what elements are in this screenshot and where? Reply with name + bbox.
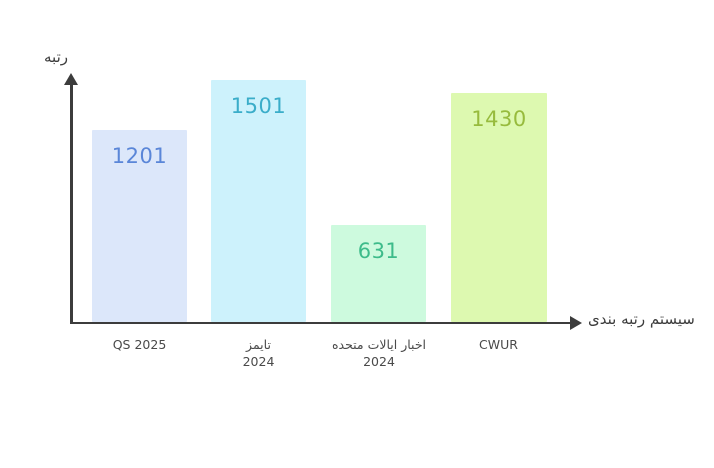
x-tick-line-1: QS 2025 [113, 337, 167, 352]
bar-value-label: 631 [358, 239, 400, 263]
x-tick-line-2: 2024 [201, 353, 316, 370]
chart-canvas: رتبه سیستم رتبه بندی 1201 1501 631 1430 … [0, 0, 714, 468]
bar-value-label: 1430 [471, 107, 526, 131]
bar-times-2024[interactable]: 1501 [211, 80, 306, 322]
x-tick-label-cwur: CWUR [441, 336, 556, 353]
plot-area: 1201 1501 631 1430 [0, 0, 714, 468]
bar-cwur[interactable]: 1430 [451, 93, 547, 322]
x-tick-line-1: CWUR [479, 337, 518, 352]
x-tick-line-2: 2024 [318, 353, 440, 370]
bar-qs-2025[interactable]: 1201 [92, 130, 187, 322]
x-tick-label-us-news-2024: اخبار ایالات متحده 2024 [318, 336, 440, 370]
x-tick-line-1: اخبار ایالات متحده [332, 337, 426, 352]
x-tick-line-1: تایمز [246, 337, 271, 352]
bar-value-label: 1501 [231, 94, 286, 118]
bar-value-label: 1201 [112, 144, 167, 168]
bar-us-news-2024[interactable]: 631 [331, 225, 426, 322]
x-tick-label-qs-2025: QS 2025 [82, 336, 197, 353]
x-tick-label-times-2024: تایمز 2024 [201, 336, 316, 370]
